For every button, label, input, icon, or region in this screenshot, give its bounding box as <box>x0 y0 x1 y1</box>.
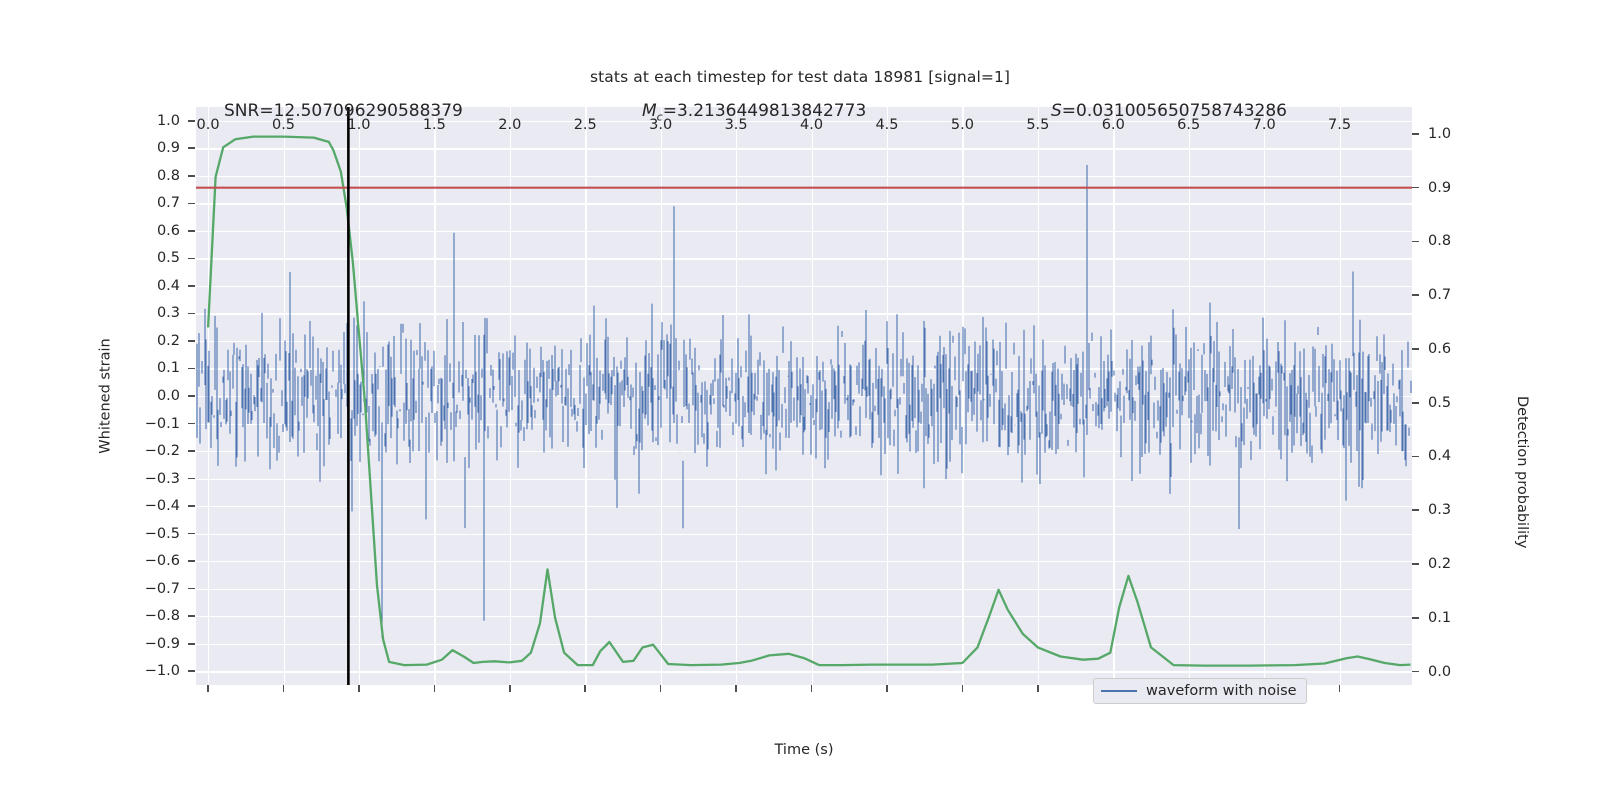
y-axis-left-tick <box>188 450 195 452</box>
y-axis-left-tick <box>188 175 195 177</box>
annotation-s: S=0.031005650758743286 <box>1051 101 1287 121</box>
y-axis-right-ticklabel: 0.5 <box>1428 395 1451 411</box>
y-axis-right-tick <box>1412 348 1419 350</box>
y-axis-left-ticklabel: −0.7 <box>0 581 180 597</box>
legend-label-waveform: waveform with noise <box>1146 683 1297 699</box>
y-axis-left-tick <box>188 203 195 205</box>
x-axis-tick <box>660 685 662 692</box>
chart-title: stats at each timestep for test data 189… <box>0 68 1600 86</box>
y-axis-left-ticklabel: −0.2 <box>0 443 180 459</box>
y-axis-right-ticklabel: 0.7 <box>1428 287 1451 303</box>
y-axis-right-tick <box>1412 456 1419 458</box>
y-axis-right-tick <box>1412 671 1419 673</box>
y-axis-right-tick <box>1412 133 1419 135</box>
y-axis-left-ticklabel: 0.4 <box>0 278 180 294</box>
y-axis-left-tick <box>188 505 195 507</box>
x-axis-label: Time (s) <box>775 742 834 758</box>
y-axis-left-ticklabel: 0.1 <box>0 360 180 376</box>
x-axis-tick <box>584 685 586 692</box>
y-axis-left-ticklabel: −0.6 <box>0 553 180 569</box>
y-axis-right-tick <box>1412 241 1419 243</box>
y-axis-left-ticklabel: 0.5 <box>0 250 180 266</box>
x-axis-tick <box>1037 685 1039 692</box>
y-axis-left-ticklabel: 0.3 <box>0 305 180 321</box>
y-axis-right-ticklabel: 0.9 <box>1428 180 1451 196</box>
annotation-mc-label: M <box>642 101 657 121</box>
y-axis-left-tick <box>188 670 195 672</box>
y-axis-right-tick <box>1412 402 1419 404</box>
y-axis-left-ticklabel: −0.5 <box>0 526 180 542</box>
y-axis-left-tick <box>188 340 195 342</box>
y-axis-left-label: Whitened strain <box>98 338 114 453</box>
y-axis-left-tick <box>188 230 195 232</box>
annotation-snr: SNR=12.507096290588379 <box>224 101 463 121</box>
y-axis-left-ticklabel: −0.1 <box>0 416 180 432</box>
annotation-mc-equals: = <box>663 101 677 121</box>
y-axis-left-tick <box>188 120 195 122</box>
x-axis-tick <box>962 685 964 692</box>
y-axis-right-label: Detection probability <box>1514 396 1530 548</box>
x-axis-tick <box>811 685 813 692</box>
y-axis-left-ticklabel: 0.0 <box>0 388 180 404</box>
y-axis-left-ticklabel: 1.0 <box>0 113 180 129</box>
annotation-s-value: 0.031005650758743286 <box>1076 101 1287 121</box>
x-axis-tick <box>1339 685 1341 692</box>
y-axis-left-tick <box>188 615 195 617</box>
y-axis-left-ticklabel: 0.9 <box>0 140 180 156</box>
y-axis-right-ticklabel: 0.6 <box>1428 341 1451 357</box>
legend-line-icon <box>1101 690 1137 692</box>
annotation-snr-value: 12.507096290588379 <box>274 101 463 121</box>
annotation-s-label: S <box>1051 101 1062 121</box>
y-axis-right-ticklabel: 0.0 <box>1428 664 1451 680</box>
annotation-chirp-mass: Mc=3.2136449813842773 <box>642 101 866 123</box>
y-axis-right-ticklabel: 0.4 <box>1428 448 1451 464</box>
y-axis-left-ticklabel: −0.8 <box>0 608 180 624</box>
annotation-mc-value: 3.2136449813842773 <box>677 101 866 121</box>
y-axis-right-ticklabel: 0.8 <box>1428 233 1451 249</box>
annotation-snr-label: SNR= <box>224 101 274 121</box>
y-axis-left-ticklabel: −0.3 <box>0 471 180 487</box>
annotation-s-equals: = <box>1062 101 1076 121</box>
figure: stats at each timestep for test data 189… <box>0 0 1600 800</box>
y-axis-left-ticklabel: 0.8 <box>0 168 180 184</box>
y-axis-left-tick <box>188 423 195 425</box>
y-axis-right-ticklabel: 1.0 <box>1428 126 1451 142</box>
y-axis-left-ticklabel: 0.7 <box>0 195 180 211</box>
x-axis-tick <box>358 685 360 692</box>
y-axis-right-tick <box>1412 617 1419 619</box>
y-axis-left-ticklabel: −0.4 <box>0 498 180 514</box>
plot-area: 1.00.90.80.70.60.50.40.30.20.10.0−0.1−0.… <box>196 107 1412 685</box>
x-axis-tick <box>886 685 888 692</box>
y-axis-left-tick <box>188 258 195 260</box>
y-axis-right-tick <box>1412 294 1419 296</box>
y-axis-left-tick <box>188 368 195 370</box>
y-axis-left-ticklabel: −0.9 <box>0 636 180 652</box>
y-axis-left-tick <box>188 285 195 287</box>
y-axis-right-ticklabel: 0.3 <box>1428 502 1451 518</box>
y-axis-left-tick <box>188 588 195 590</box>
y-axis-left-tick <box>188 313 195 315</box>
x-axis-tick <box>509 685 511 692</box>
reference-lines <box>196 107 1412 685</box>
y-axis-left-tick <box>188 478 195 480</box>
y-axis-right-tick <box>1412 563 1419 565</box>
y-axis-right-tick <box>1412 509 1419 511</box>
x-axis-tick <box>283 685 285 692</box>
y-axis-left-tick <box>188 560 195 562</box>
y-axis-left-ticklabel: 0.6 <box>0 223 180 239</box>
y-axis-left-tick <box>188 533 195 535</box>
y-axis-left-tick <box>188 643 195 645</box>
y-axis-left-ticklabel: 0.2 <box>0 333 180 349</box>
y-axis-left-tick <box>188 395 195 397</box>
x-axis-tick <box>434 685 436 692</box>
y-axis-right-ticklabel: 0.1 <box>1428 610 1451 626</box>
x-axis-tick <box>735 685 737 692</box>
legend[interactable]: waveform with noise <box>1093 678 1307 704</box>
y-axis-left-ticklabel: −1.0 <box>0 663 180 679</box>
y-axis-right-tick <box>1412 187 1419 189</box>
y-axis-left-tick <box>188 147 195 149</box>
y-axis-right-ticklabel: 0.2 <box>1428 556 1451 572</box>
x-axis-tick <box>207 685 209 692</box>
